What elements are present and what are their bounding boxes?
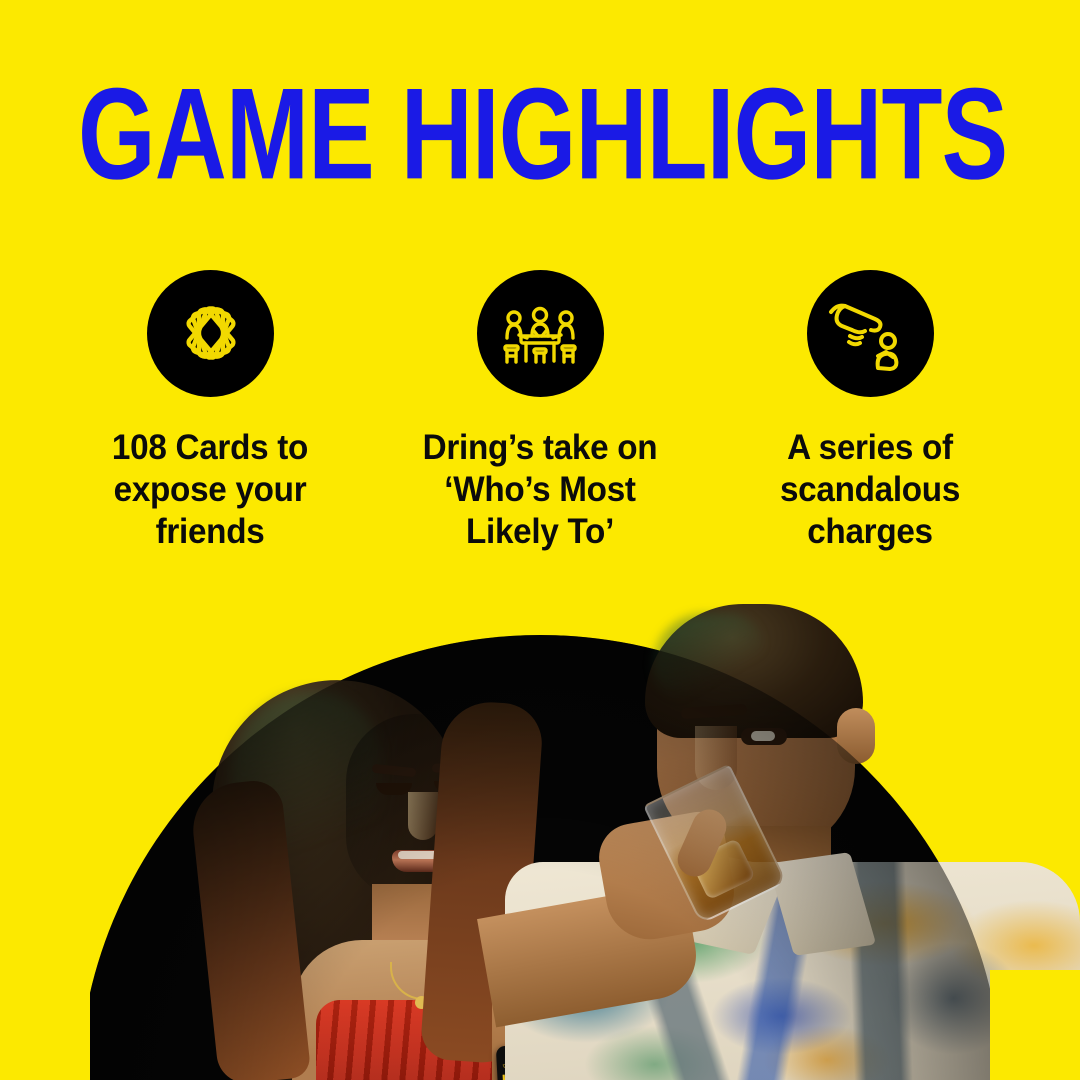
page-title: GAME HIGHLIGHTS <box>78 72 869 195</box>
poster-canvas: GAME HIGHLIGHTS <box>0 0 1080 1080</box>
pointing-finger-at-person-icon <box>807 270 934 397</box>
highlights-row: 108 Cards to expose your friends <box>0 270 1080 553</box>
lifestyle-photo: dring Dare Chugaskate HORRIBLE FRIENDS B… <box>0 600 1080 1080</box>
highlight-item-cards: 108 Cards to expose your friends <box>45 270 375 553</box>
fan-of-cards-icon <box>147 270 274 397</box>
highlight-item-charges: A series of scandalous charges <box>705 270 1035 553</box>
hair-highlight <box>653 614 763 700</box>
highlight-label: 108 Cards to expose your friends <box>68 427 353 553</box>
ear <box>837 708 875 764</box>
highlight-label: A series of scandalous charges <box>728 427 1013 553</box>
circle-corner-mask-left <box>0 970 90 1080</box>
highlight-item-table: Dring’s take on ‘Who’s Most Likely To’ <box>375 270 705 553</box>
nose <box>408 792 438 840</box>
player-man <box>545 600 1080 1080</box>
highlight-label: Dring’s take on ‘Who’s Most Likely To’ <box>398 427 683 553</box>
people-at-table-icon <box>477 270 604 397</box>
eye-white <box>751 731 775 741</box>
